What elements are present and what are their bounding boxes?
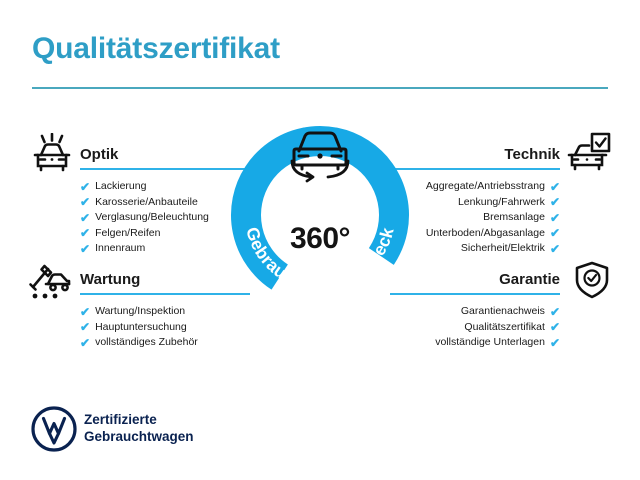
list-item-label: Lenkung/Fahrwerk xyxy=(458,195,545,211)
list-item-label: Wartung/Inspektion xyxy=(95,304,185,320)
list-item-label: Garantienachweis xyxy=(461,304,545,320)
check-icon: ✔ xyxy=(80,306,90,318)
check-icon: ✔ xyxy=(550,196,560,208)
check-icon: ✔ xyxy=(550,321,560,333)
vw-wordmark-line2: Gebrauchtwagen xyxy=(84,428,194,445)
list-item-label: Felgen/Reifen xyxy=(95,226,160,242)
list-item-label: Lackierung xyxy=(95,179,146,195)
check-icon: ✔ xyxy=(80,243,90,255)
title-divider xyxy=(32,87,608,89)
car-checkbox-icon xyxy=(566,131,612,173)
360-check-badge: Gebrauchtwagen-Check xyxy=(225,120,415,310)
list-item-label: Sicherheit/Elektrik xyxy=(461,241,545,257)
check-icon: ✔ xyxy=(550,181,560,193)
check-icon: ✔ xyxy=(550,212,560,224)
check-icon: ✔ xyxy=(80,321,90,333)
car-rotate-icon xyxy=(282,125,358,183)
list-item-label: Bremsanlage xyxy=(483,210,545,226)
check-icon: ✔ xyxy=(550,306,560,318)
check-icon: ✔ xyxy=(80,337,90,349)
section-divider xyxy=(390,168,560,170)
list-item-label: vollständige Unterlagen xyxy=(435,335,545,351)
list-item-label: vollständiges Zubehör xyxy=(95,335,198,351)
badge-center-label: 360° xyxy=(225,222,415,256)
vw-wordmark: Zertifizierte Gebrauchtwagen xyxy=(84,411,194,445)
check-list-wartung: ✔ Wartung/Inspektion ✔ Hauptuntersuchung… xyxy=(80,304,330,351)
list-item: Qualitätszertifikat ✔ xyxy=(310,320,560,336)
check-icon: ✔ xyxy=(80,227,90,239)
certificate-page: Qualitätszertifikat Optik xyxy=(0,0,640,480)
check-icon: ✔ xyxy=(80,212,90,224)
list-item-label: Karosserie/Anbauteile xyxy=(95,195,198,211)
check-list-garantie: Garantienachweis ✔ Qualitätszertifikat ✔… xyxy=(310,304,560,351)
section-divider xyxy=(390,293,560,295)
list-item-label: Qualitätszertifikat xyxy=(464,320,545,336)
check-icon: ✔ xyxy=(80,181,90,193)
list-item-label: Hauptuntersuchung xyxy=(95,320,187,336)
list-item: vollständige Unterlagen ✔ xyxy=(310,335,560,351)
check-icon: ✔ xyxy=(550,227,560,239)
list-item-label: Unterboden/Abgasanlage xyxy=(426,226,545,242)
list-item-label: Aggregate/Antriebsstrang xyxy=(426,179,545,195)
list-item-label: Innenraum xyxy=(95,241,145,257)
shield-check-icon xyxy=(572,259,612,301)
vw-wordmark-line1: Zertifizierte xyxy=(84,411,194,428)
list-item: ✔ vollständiges Zubehör xyxy=(80,335,330,351)
check-icon: ✔ xyxy=(550,337,560,349)
vw-roundel-logo xyxy=(31,406,77,452)
list-item: ✔ Hauptuntersuchung xyxy=(80,320,330,336)
check-icon: ✔ xyxy=(80,196,90,208)
page-title: Qualitätszertifikat xyxy=(32,32,280,66)
car-shine-icon xyxy=(29,133,75,175)
check-icon: ✔ xyxy=(550,243,560,255)
car-wrench-icon xyxy=(26,258,72,300)
list-item-label: Verglasung/Beleuchtung xyxy=(95,210,209,226)
